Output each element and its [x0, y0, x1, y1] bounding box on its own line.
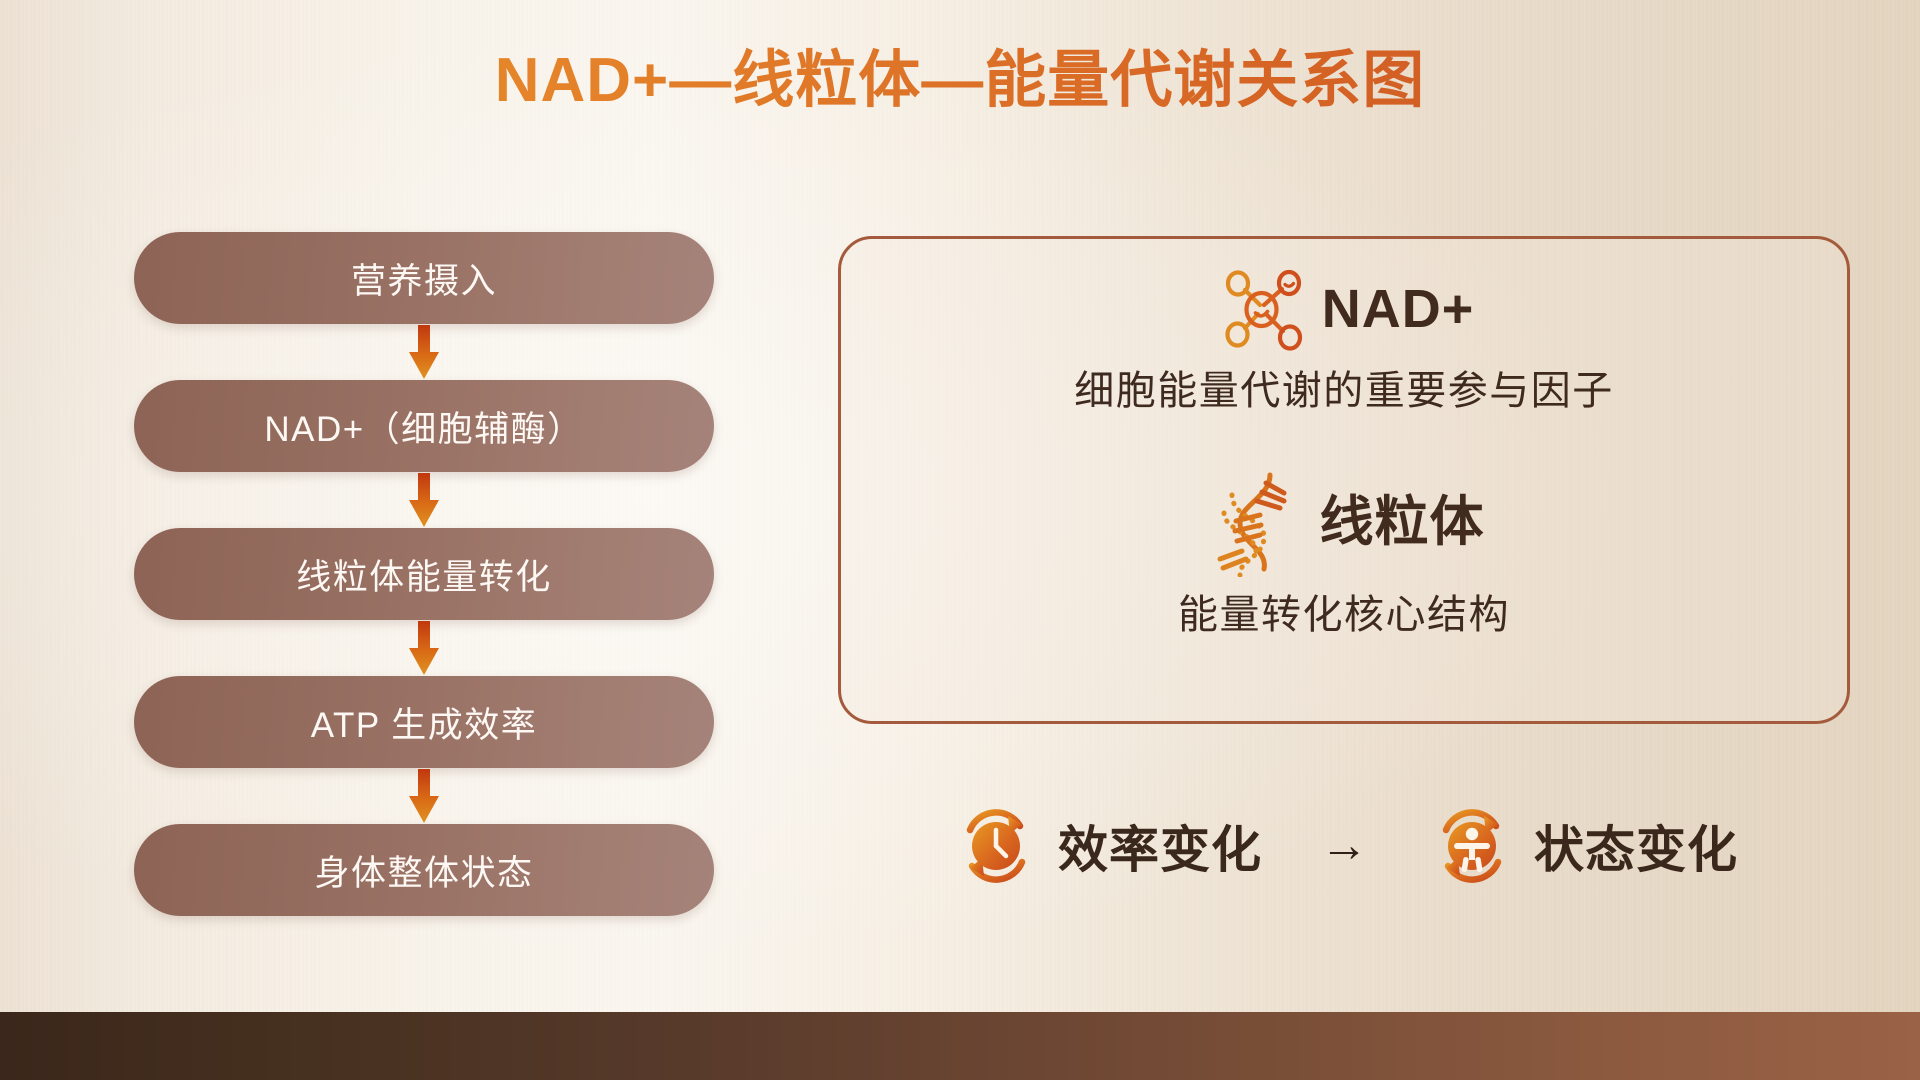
- bottom-accent-bar: [0, 1012, 1920, 1080]
- dna-helix-icon: [1204, 467, 1308, 577]
- flow-connector-2: [401, 472, 447, 528]
- page-title: NAD+—线粒体—能量代谢关系图: [0, 46, 1920, 115]
- process-flow: 营养摄入 NAD+（细胞辅酶） 线粒体能量转化: [134, 232, 714, 916]
- relation-row: 效率变化 → 状态变化: [838, 800, 1850, 892]
- flow-step-nad[interactable]: NAD+（细胞辅酶）: [134, 380, 714, 472]
- flow-step-label: 营养摄入: [351, 253, 497, 304]
- flow-step-body-state[interactable]: 身体整体状态: [134, 824, 714, 916]
- flow-connector-4: [401, 768, 447, 824]
- card-entry-heading: NAD+: [1322, 282, 1475, 336]
- arrow-down-icon: [401, 473, 447, 527]
- molecule-icon: [1214, 261, 1310, 357]
- arrow-down-icon: [401, 621, 447, 675]
- flow-step-mitochondria[interactable]: 线粒体能量转化: [134, 528, 714, 620]
- flow-connector-3: [401, 620, 447, 676]
- flow-step-nutrition[interactable]: 营养摄入: [134, 232, 714, 324]
- flow-connector-1: [401, 324, 447, 380]
- card-entry-heading: 线粒体: [1320, 495, 1485, 549]
- flow-step-label: ATP 生成效率: [311, 697, 538, 748]
- flow-step-atp[interactable]: ATP 生成效率: [134, 676, 714, 768]
- arrow-down-icon: [401, 325, 447, 379]
- infographic-canvas: NAD+—线粒体—能量代谢关系图 营养摄入 NAD+（细胞辅酶）: [0, 0, 1920, 1080]
- clock-refresh-icon: [950, 800, 1042, 892]
- flow-step-label: NAD+（细胞辅酶）: [264, 401, 583, 452]
- relation-label: 效率变化: [1058, 810, 1262, 882]
- relation-label: 状态变化: [1534, 810, 1738, 882]
- card-entry-subtitle: 能量转化核心结构: [841, 595, 1847, 635]
- card-entry-subtitle: 细胞能量代谢的重要参与因子: [841, 371, 1847, 411]
- card-entry-mitochondria: 线粒体 能量转化核心结构: [841, 467, 1847, 635]
- card-entry-heading-row: 线粒体: [841, 467, 1847, 577]
- flow-step-label: 身体整体状态: [314, 845, 533, 896]
- relation-state[interactable]: 状态变化: [1426, 800, 1738, 892]
- card-entry-heading-row: NAD+: [841, 261, 1847, 357]
- flow-step-label: 线粒体能量转化: [296, 549, 552, 600]
- relation-efficiency[interactable]: 效率变化: [950, 800, 1262, 892]
- relation-arrow-icon: →: [1302, 822, 1386, 870]
- person-refresh-icon: [1426, 800, 1518, 892]
- card-entry-nad: NAD+ 细胞能量代谢的重要参与因子: [841, 261, 1847, 411]
- concept-card: NAD+ 细胞能量代谢的重要参与因子: [838, 236, 1850, 724]
- arrow-down-icon: [401, 769, 447, 823]
